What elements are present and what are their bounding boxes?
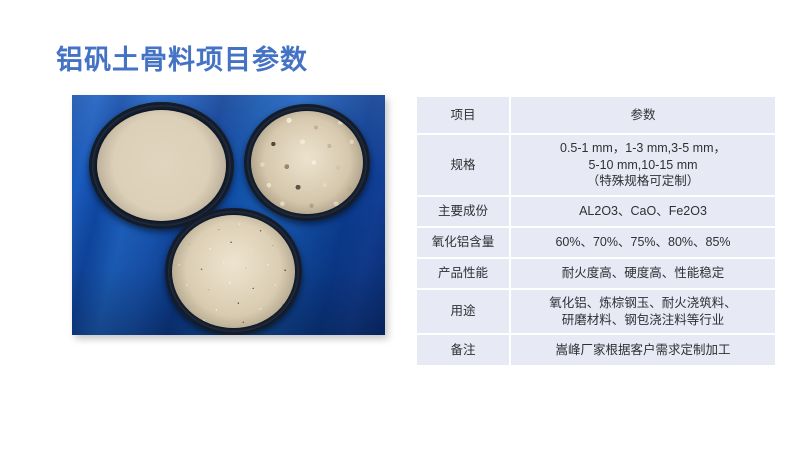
table-row: 产品性能 耐火度高、硬度高、性能稳定: [417, 258, 775, 289]
row-label-main-composition: 主要成份: [417, 196, 510, 227]
spec-line-2: 5-10 mm,10-15 mm: [514, 157, 772, 174]
row-label-alumina-content: 氧化铝含量: [417, 227, 510, 258]
row-value-product-performance: 耐火度高、硬度高、性能稳定: [510, 258, 775, 289]
fine-aggregate-bowl: [165, 208, 302, 335]
usage-line-2: 研磨材料、钢包浇注料等行业: [514, 312, 772, 329]
row-label-specification: 规格: [417, 134, 510, 196]
composition-line-1: AL2O3、CaO、Fe2O3: [514, 203, 772, 220]
slide-canvas: 铝矾土骨料项目参数 项目 参数: [0, 0, 800, 450]
table-row: 主要成份 AL2O3、CaO、Fe2O3: [417, 196, 775, 227]
table-row: 规格 0.5-1 mm，1-3 mm,3-5 mm， 5-10 mm,10-15…: [417, 134, 775, 196]
fine-bowl-rim: [165, 208, 302, 335]
page-title: 铝矾土骨料项目参数: [56, 38, 308, 77]
row-value-usage: 氧化铝、炼棕钢玉、耐火浇筑料、 研磨材料、钢包浇注料等行业: [510, 289, 775, 334]
medium-aggregate-bowl: [244, 104, 370, 221]
header-value: 参数: [510, 97, 775, 134]
row-label-remarks: 备注: [417, 334, 510, 365]
bauxite-aggregate-samples-photo: [72, 95, 385, 335]
row-value-remarks: 嵩峰厂家根据客户需求定制加工: [510, 334, 775, 365]
performance-line-1: 耐火度高、硬度高、性能稳定: [514, 265, 772, 282]
table-row: 用途 氧化铝、炼棕钢玉、耐火浇筑料、 研磨材料、钢包浇注料等行业: [417, 289, 775, 334]
row-label-product-performance: 产品性能: [417, 258, 510, 289]
remarks-line-1: 嵩峰厂家根据客户需求定制加工: [514, 342, 772, 359]
row-label-usage: 用途: [417, 289, 510, 334]
usage-line-1: 氧化铝、炼棕钢玉、耐火浇筑料、: [514, 295, 772, 312]
row-value-specification: 0.5-1 mm，1-3 mm,3-5 mm， 5-10 mm,10-15 mm…: [510, 134, 775, 196]
spec-line-3: （特殊规格可定制）: [514, 173, 772, 190]
row-value-main-composition: AL2O3、CaO、Fe2O3: [510, 196, 775, 227]
medium-bowl-rim: [244, 104, 370, 221]
row-value-alumina-content: 60%、70%、75%、80%、85%: [510, 227, 775, 258]
alumina-line-1: 60%、70%、75%、80%、85%: [514, 234, 772, 251]
spec-line-1: 0.5-1 mm，1-3 mm,3-5 mm，: [514, 140, 772, 157]
table-row: 氧化铝含量 60%、70%、75%、80%、85%: [417, 227, 775, 258]
table-header-row: 项目 参数: [417, 97, 775, 134]
table-row: 备注 嵩峰厂家根据客户需求定制加工: [417, 334, 775, 365]
header-item: 项目: [417, 97, 510, 134]
project-parameters-table: 项目 参数 规格 0.5-1 mm，1-3 mm,3-5 mm， 5-10 mm…: [417, 97, 775, 365]
